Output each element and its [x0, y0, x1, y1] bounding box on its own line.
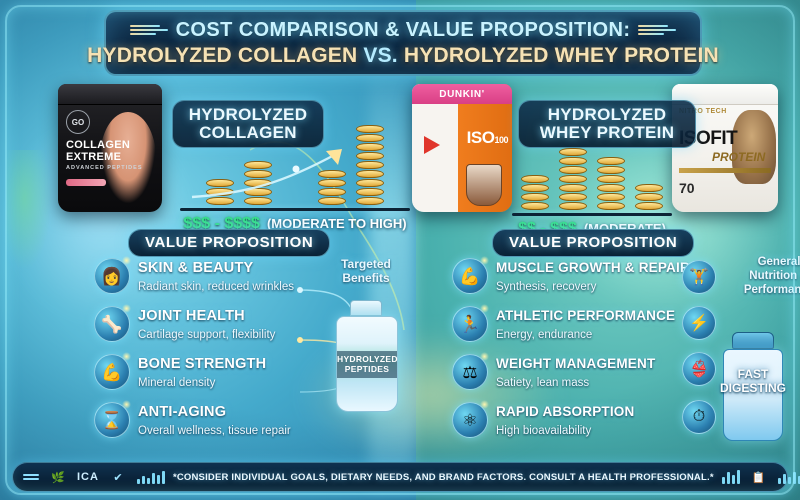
benefit-row[interactable]: 💪 MUSCLE GROWTH & REPAIR Synthesis, reco…	[452, 258, 690, 295]
benefit-row[interactable]: 🦴 JOINT HEALTH Cartilage support, flexib…	[94, 306, 330, 343]
center-column: Targeted Benefits HYDROLYZED PEPTIDES	[318, 258, 414, 408]
collagen-tub: GO COLLAGEN EXTREME ADVANCED PEPTIDES	[58, 84, 162, 212]
tub-flavor-band	[66, 179, 106, 186]
left-value-proposition-header: VALUE PROPOSITION	[128, 229, 330, 257]
footer-disclaimer: *CONSIDER INDIVIDUAL GOALS, DIETARY NEED…	[173, 472, 714, 483]
collagen-name-line1: HYDROLYZED	[187, 106, 309, 124]
benefit-title: ATHLETIC PERFORMANCE	[496, 308, 675, 323]
benefit-title: BONE STRENGTH	[138, 356, 266, 372]
knee-joint-icon: 🦴	[94, 306, 130, 342]
title-dash-left-icon	[130, 25, 168, 35]
isofit-servings: 70	[679, 180, 695, 196]
benefit-subtitle: Radiant skin, reduced wrinkles	[138, 281, 294, 293]
leaf-decoration	[6, 150, 52, 270]
tub-name-line2: EXTREME	[66, 152, 121, 164]
benefit-row[interactable]: ⌛ ANTI-AGING Overall wellness, tissue re…	[94, 402, 330, 439]
general-nutrition-note: General Nutrition & Performance	[736, 256, 800, 297]
iso-name-text: ISO	[467, 128, 495, 147]
dymatize-logo-icon	[424, 136, 440, 154]
bottle-label-line1: HYDROLYZED	[337, 354, 397, 365]
benefit-title: MUSCLE GROWTH & REPAIR	[496, 260, 690, 275]
isofit-gold-bar	[679, 168, 771, 173]
benefit-row[interactable]: 💪 BONE STRENGTH Mineral density	[94, 354, 330, 391]
price-baseline	[180, 208, 410, 211]
hydrolyzed-peptides-bottle: HYDROLYZED PEPTIDES	[336, 300, 396, 408]
coin-stack-2	[559, 148, 587, 210]
whey-name-line2: WHEY PROTEIN	[533, 124, 681, 142]
shaker-cap	[732, 332, 774, 349]
benefit-subtitle: Mineral density	[138, 377, 215, 389]
collagen-product-image: GO COLLAGEN EXTREME ADVANCED PEPTIDES	[58, 84, 162, 212]
fast-digesting-shaker: FAST DIGESTING	[722, 332, 784, 440]
dunkin-iso100-product-image: DUNKIN' ISO100	[412, 84, 512, 212]
note-line3: Performance	[736, 284, 800, 298]
page-title: COST COMPARISON & VALUE PROPOSITION:	[176, 19, 631, 42]
coin-stack-1	[206, 179, 234, 205]
coin-stacks	[512, 150, 672, 210]
verified-badge-icon: ✔	[107, 468, 129, 486]
clipboard-icon: 📋	[748, 468, 770, 486]
bone-arm-icon: 💪	[94, 354, 130, 390]
right-value-proposition-header: VALUE PROPOSITION	[492, 229, 694, 257]
bar-chart-icon	[722, 470, 740, 484]
whey-benefit-list: 💪 MUSCLE GROWTH & REPAIR Synthesis, reco…	[452, 258, 690, 439]
whey-price-group: $$ - $$$ (MODERATE)	[512, 150, 672, 238]
subtitle-vs: VS.	[363, 44, 397, 67]
iso-name-sup: 100	[494, 135, 508, 145]
collagen-name-line2: COLLAGEN	[187, 124, 309, 142]
coin-stack-3	[318, 170, 346, 205]
isofit-name-2: PROTEIN	[712, 150, 765, 164]
shaker-line1: FAST	[738, 367, 769, 381]
dumbbell-icon: 🏋	[682, 260, 716, 294]
infographic-canvas: COST COMPARISON & VALUE PROPOSITION: HYD…	[0, 0, 800, 500]
coin-stack-1	[521, 175, 549, 210]
title-line-1: COST COMPARISON & VALUE PROPOSITION:	[130, 19, 677, 42]
body-slim-icon: 👙	[682, 352, 716, 386]
targeted-line1: Targeted	[341, 257, 391, 271]
targeted-benefits-label: Targeted Benefits	[318, 258, 414, 286]
bottle-label-line2: PEPTIDES	[337, 364, 397, 375]
benefit-title: WEIGHT MANAGEMENT	[496, 356, 655, 371]
benefit-title: ANTI-AGING	[138, 404, 226, 420]
histogram-icon	[778, 470, 800, 484]
right-vp-title: VALUE PROPOSITION	[509, 234, 677, 251]
title-subtitle: HYDROLYZED COLLAGEN VS. HYDROLYZED WHEY …	[87, 44, 719, 68]
benefit-row[interactable]: ⚖ WEIGHT MANAGEMENT Satiety, lean mass	[452, 354, 690, 391]
lightning-bolt-icon: ⚡	[682, 306, 716, 340]
footer-logo: ICA	[77, 471, 99, 483]
benefit-subtitle: Synthesis, recovery	[496, 281, 596, 293]
hourglass-icon: ⌛	[94, 402, 130, 438]
coin-stack-2	[244, 161, 272, 205]
molecule-icon: ⚛	[452, 402, 488, 438]
benefit-subtitle: Cartilage support, flexibility	[138, 329, 275, 341]
whey-name-line1: HYDROLYZED	[533, 106, 681, 124]
benefit-row[interactable]: ⚛ RAPID ABSORPTION High bioavailability	[452, 402, 690, 439]
benefit-title: SKIN & BEAUTY	[138, 260, 253, 276]
collagen-price-group: $$$ - $$$$ (MODERATE TO HIGH)	[180, 145, 410, 233]
coin-stack-3	[597, 157, 625, 210]
shaker-label: FAST DIGESTING	[716, 368, 790, 396]
leaf-icon: 🌿	[47, 468, 69, 486]
benefit-row[interactable]: 🏃 ATHLETIC PERFORMANCE Energy, endurance	[452, 306, 690, 343]
bottle-neck	[350, 300, 382, 316]
tub-lid	[58, 84, 162, 105]
collagen-benefit-list: 👩 SKIN & BEAUTY Radiant skin, reduced wr…	[94, 258, 330, 439]
price-baseline	[512, 213, 672, 216]
subtitle-part-whey: HYDROLYZED WHEY PROTEIN	[398, 44, 719, 67]
stopwatch-icon: ⏱	[682, 400, 716, 434]
tub-lid: DUNKIN'	[412, 84, 512, 104]
whey-name-pill: HYDROLYZED WHEY PROTEIN	[518, 100, 696, 148]
bottle-body: HYDROLYZED PEPTIDES	[336, 316, 398, 412]
footer-dash-left-icon	[23, 474, 39, 480]
bicep-icon: 💪	[452, 258, 488, 294]
benefit-title: JOINT HEALTH	[138, 308, 245, 324]
benefit-subtitle: Satiety, lean mass	[496, 377, 589, 389]
footer-bar: 🌿 ICA ✔ *CONSIDER INDIVIDUAL GOALS, DIET…	[12, 462, 788, 492]
brand-mark: GO	[66, 110, 90, 134]
title-banner: COST COMPARISON & VALUE PROPOSITION: HYD…	[104, 10, 702, 76]
collagen-name-pill: HYDROLYZED COLLAGEN	[172, 100, 324, 148]
tub-name-line1: COLLAGEN	[66, 140, 130, 152]
runner-icon: 🏃	[452, 306, 488, 342]
subtitle-part-collagen: HYDROLYZED COLLAGEN	[87, 44, 363, 67]
targeted-line2: Benefits	[342, 271, 389, 285]
note-line1: General	[736, 256, 800, 270]
coin-stacks	[180, 145, 410, 205]
benefit-subtitle: Overall wellness, tissue repair	[138, 425, 291, 437]
weight-scale-icon: ⚖	[452, 354, 488, 390]
dunkin-tub: DUNKIN' ISO100	[412, 84, 512, 212]
tub-subtitle: ADVANCED PEPTIDES	[66, 166, 143, 172]
dunkin-brand: DUNKIN'	[439, 89, 484, 100]
shaker-line2: DIGESTING	[720, 381, 786, 395]
coin-stack-4	[356, 125, 384, 205]
note-line2: Nutrition &	[736, 270, 800, 284]
left-vp-title: VALUE PROPOSITION	[145, 234, 313, 251]
coffee-cup-graphic	[466, 164, 502, 206]
benefit-subtitle: Energy, endurance	[496, 329, 592, 341]
iso100-name: ISO100	[467, 128, 508, 148]
benefit-subtitle: High bioavailability	[496, 425, 591, 437]
face-icon: 👩	[94, 258, 130, 294]
title-dash-right-icon	[638, 25, 676, 35]
line-chart-icon	[137, 470, 165, 484]
coin-stack-4	[635, 184, 663, 210]
bottle-label: HYDROLYZED PEPTIDES	[337, 351, 397, 378]
benefit-row[interactable]: 👩 SKIN & BEAUTY Radiant skin, reduced wr…	[94, 258, 330, 295]
benefit-title: RAPID ABSORPTION	[496, 404, 634, 419]
